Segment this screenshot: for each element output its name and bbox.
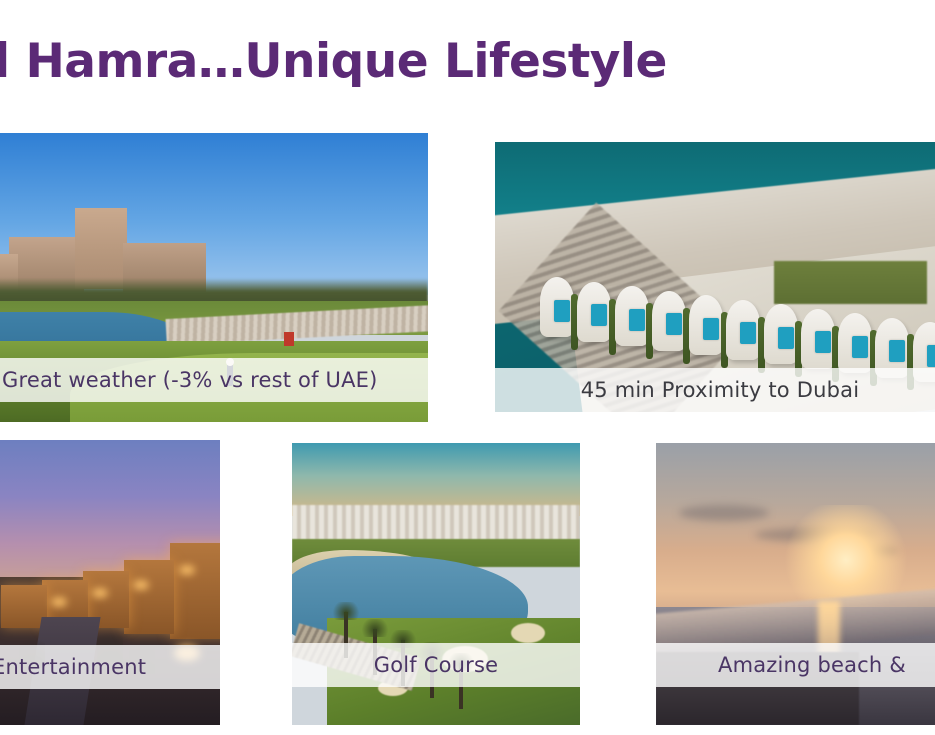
caption-band-entertainment: Entertainment <box>0 645 220 689</box>
caption-label-great-weather: Great weather (-3% vs rest of UAE) <box>2 368 378 392</box>
pool-shape <box>927 345 935 367</box>
pool-shape <box>740 322 756 344</box>
pool-shape <box>629 309 645 331</box>
caption-label-entertainment: Entertainment <box>0 655 146 679</box>
caption-label-amazing-beach: Amazing beach & <box>718 653 906 677</box>
pool-shape <box>815 331 831 353</box>
photo-card-proximity-to-dubai[interactable]: 45 min Proximity to Dubai <box>495 142 935 412</box>
caption-band-golf-course: Golf Course <box>292 643 580 687</box>
pool-shape <box>554 300 570 322</box>
pool-shape <box>889 340 905 362</box>
caption-band-great-weather: Great weather (-3% vs rest of UAE) <box>0 358 428 402</box>
caption-band-proximity-to-dubai: 45 min Proximity to Dubai <box>495 368 935 412</box>
photo-card-entertainment[interactable]: Entertainment <box>0 440 220 725</box>
pool-shape <box>778 327 794 349</box>
pool-shape <box>666 313 682 335</box>
photo-card-great-weather[interactable]: Great weather (-3% vs rest of UAE) <box>0 133 428 422</box>
photo-card-golf-course[interactable]: Golf Course <box>292 443 580 725</box>
pool-shape <box>703 318 719 340</box>
pool-shape <box>852 336 868 358</box>
caption-band-amazing-beach: Amazing beach & <box>656 643 935 687</box>
caption-label-proximity-to-dubai: 45 min Proximity to Dubai <box>581 378 860 402</box>
page-title: l Hamra…Unique Lifestyle <box>0 36 667 88</box>
pool-shape <box>591 304 607 326</box>
photo-card-amazing-beach[interactable]: Amazing beach & <box>656 443 935 725</box>
caption-label-golf-course: Golf Course <box>374 653 499 677</box>
